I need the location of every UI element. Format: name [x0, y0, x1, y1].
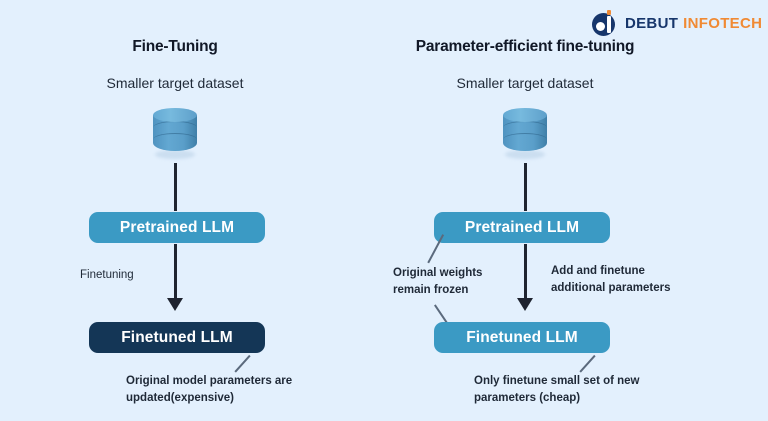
arrow-pretrained-to-finetuned-right — [524, 244, 527, 302]
annotation-original-weights-frozen: Original weights remain frozen — [393, 265, 508, 298]
brand-name-primary: DEBUT — [625, 15, 678, 32]
footnote-fine-tuning-line1: Original model parameters are — [126, 373, 341, 390]
brand-logo: DEBUTINFOTECH — [592, 10, 762, 36]
arrow-dataset-to-pretrained-left — [174, 163, 177, 211]
footnote-peft-line1: Only finetune small set of new — [474, 373, 699, 390]
footnote-peft: Only finetune small set of new parameter… — [474, 373, 699, 406]
arrow-pretrained-to-finetuned-left — [174, 244, 177, 302]
footnote-fine-tuning-line2: updated(expensive) — [126, 390, 341, 407]
debut-circle-d-icon — [592, 10, 618, 36]
database-cylinder-icon — [153, 108, 197, 158]
arrowhead-finetuning-left — [167, 298, 183, 311]
footnote-peft-line2: parameters (cheap) — [474, 390, 699, 407]
annotation-original-weights-line1: Original weights — [393, 265, 508, 282]
arrow-dataset-to-pretrained-right — [524, 163, 527, 211]
box-finetuned-llm-left[interactable]: Finetuned LLM — [89, 322, 265, 353]
brand-name-secondary: INFOTECH — [683, 15, 762, 32]
box-finetuned-llm-right-label: Finetuned LLM — [466, 329, 578, 347]
box-pretrained-llm-right[interactable]: Pretrained LLM — [434, 212, 610, 243]
box-pretrained-llm-left-label: Pretrained LLM — [120, 219, 234, 237]
brand-wordmark: DEBUTINFOTECH — [625, 16, 762, 31]
column-title-peft: Parameter-efficient fine-tuning — [375, 38, 675, 56]
annotation-add-finetune-line2: additional parameters — [551, 280, 701, 297]
column-subtitle-peft: Smaller target dataset — [375, 75, 675, 91]
box-pretrained-llm-left[interactable]: Pretrained LLM — [89, 212, 265, 243]
leader-line-footnote-right — [579, 355, 595, 372]
diagram-canvas: DEBUTINFOTECH Fine-Tuning Smaller target… — [0, 0, 768, 421]
arrow-label-finetuning: Finetuning — [80, 267, 160, 284]
column-title-fine-tuning: Fine-Tuning — [55, 38, 295, 56]
footnote-fine-tuning: Original model parameters are updated(ex… — [126, 373, 341, 406]
annotation-add-finetune-additional: Add and finetune additional parameters — [551, 263, 701, 296]
database-cylinder-icon — [503, 108, 547, 158]
box-finetuned-llm-left-label: Finetuned LLM — [121, 329, 233, 347]
leader-line-footnote-left — [234, 355, 250, 372]
column-subtitle-fine-tuning: Smaller target dataset — [55, 75, 295, 91]
box-finetuned-llm-right[interactable]: Finetuned LLM — [434, 322, 610, 353]
arrowhead-finetuning-right — [517, 298, 533, 311]
box-pretrained-llm-right-label: Pretrained LLM — [465, 219, 579, 237]
annotation-add-finetune-line1: Add and finetune — [551, 263, 701, 280]
annotation-original-weights-line2: remain frozen — [393, 282, 508, 299]
